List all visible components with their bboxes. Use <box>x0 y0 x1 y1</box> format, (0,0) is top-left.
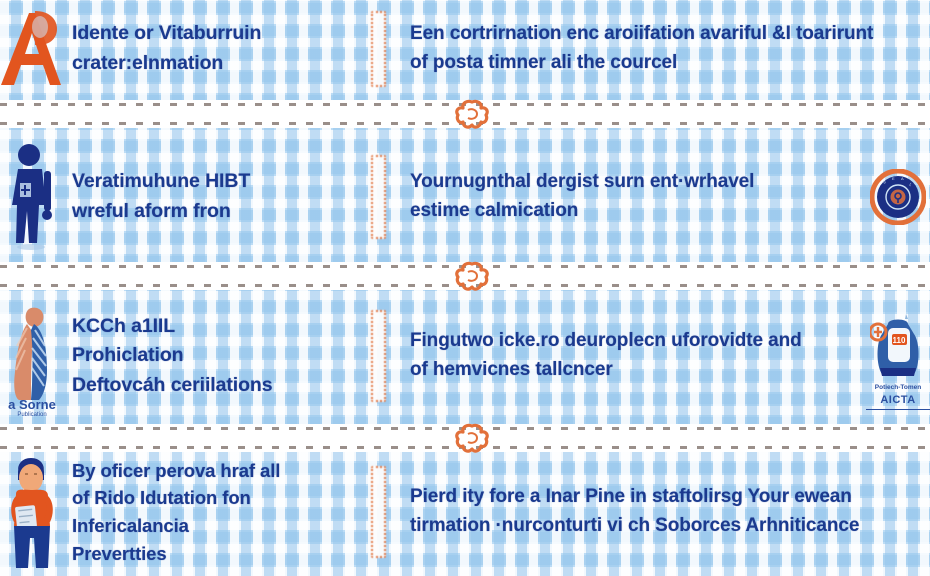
illustration-caption: a Sorne Publication <box>0 397 68 418</box>
circular-seal-badge-icon: S E A L <box>870 169 926 225</box>
row-left-column: Veratimuhune HIBT wreful aform fron <box>66 167 358 226</box>
row-right-column: Pierd ity fore a Inar Pine in staftolirs… <box>398 483 930 541</box>
orange-floral-ornament-icon <box>455 99 489 129</box>
orange-shirt-person-figure-icon <box>4 450 62 574</box>
svg-text:110: 110 <box>893 336 906 345</box>
svg-text:A: A <box>901 176 904 181</box>
vertical-dotted-bar-icon <box>371 155 386 239</box>
row-divider <box>0 100 930 128</box>
row-left-column: By oficer perova hraf all of Rido Idutat… <box>66 457 358 568</box>
row-right-text: Yournugnthal dergist surn ent·wrhavel es… <box>410 168 858 226</box>
row-left-column: Idente or Vitaburruin crater:elnmation <box>66 19 358 78</box>
illustration-caption-line1: a Sorne <box>0 397 68 412</box>
row-left-text: Idente or Vitaburruin crater:elnmation <box>72 19 350 78</box>
row-right-text: Een cortrirnation enc aroiifation avarif… <box>410 20 922 78</box>
row-separator-slot <box>358 128 398 266</box>
row-icon-slot <box>0 448 66 576</box>
row-right-column: Fingutwo icke.ro deuroplecn uforovidte a… <box>398 327 866 385</box>
badge-caption: Potiech-Tomen AICTA <box>866 384 930 410</box>
row-left-text: By oficer perova hraf all of Rido Idutat… <box>72 457 350 568</box>
row-icon-slot <box>0 128 66 266</box>
infographic-row: a Sorne Publication KCCh a1IIL Prohiclat… <box>0 286 930 426</box>
row-right-text: Fingutwo icke.ro deuroplecn uforovidte a… <box>410 327 858 385</box>
row-left-text: KCCh a1IIL Prohiclation Deftovcáh ceriil… <box>72 312 350 401</box>
badge-caption-big: AICTA <box>866 393 930 410</box>
row-separator-slot <box>358 448 398 576</box>
row-right-text: Pierd ity fore a Inar Pine in staftolirs… <box>410 483 922 541</box>
vertical-dotted-bar-icon <box>371 310 386 402</box>
row-icon-slot <box>0 0 66 98</box>
vertical-dotted-bar-icon <box>371 466 386 558</box>
row-icon-slot: a Sorne Publication <box>0 286 66 426</box>
illustration-caption-line2: Publication <box>0 412 68 418</box>
infographic-row: Veratimuhune HIBT wreful aform fron Your… <box>0 128 930 266</box>
draped-figure-illustration-icon <box>1 300 65 412</box>
orange-letter-a-logo-icon <box>0 9 61 89</box>
row-separator-slot <box>358 0 398 98</box>
badge-caption-small: Potiech-Tomen <box>875 384 921 391</box>
row-left-text: Veratimuhune HIBT wreful aform fron <box>72 167 350 226</box>
row-right-column: Yournugnthal dergist surn ent·wrhavel es… <box>398 168 866 226</box>
row-separator-slot <box>358 286 398 426</box>
infographic-row: Idente or Vitaburruin crater:elnmation E… <box>0 0 930 98</box>
infographic-row: By oficer perova hraf all of Rido Idutat… <box>0 448 930 576</box>
row-right-column: Een cortrirnation enc aroiifation avarif… <box>398 20 930 78</box>
row-badge-slot: S E A L <box>866 128 930 266</box>
navy-person-figure-icon <box>7 143 59 251</box>
row-badge-slot: 110 Potiech-Tomen AICTA <box>866 286 930 426</box>
infographic-canvas: Idente or Vitaburruin crater:elnmation E… <box>0 0 930 576</box>
vertical-dotted-bar-icon <box>371 11 386 87</box>
row-left-column: KCCh a1IIL Prohiclation Deftovcáh ceriil… <box>66 312 358 401</box>
svg-text:E: E <box>892 176 895 181</box>
